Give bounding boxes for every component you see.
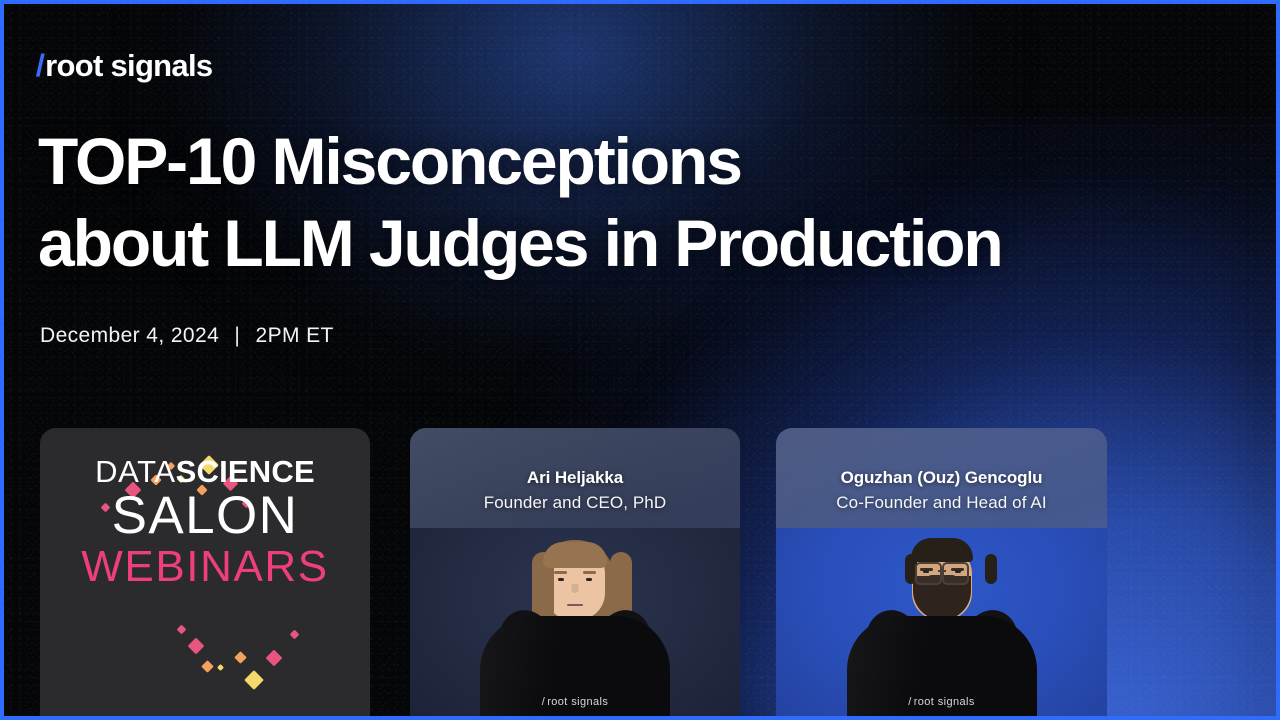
dss-word-webinars: WEBINARS xyxy=(40,545,370,589)
confetti-diamond xyxy=(188,638,205,655)
data-science-salon-card: DATASCIENCE SALON WEBINARS xyxy=(40,428,370,720)
hair xyxy=(911,538,973,562)
speaker-role: Founder and CEO, PhD xyxy=(410,493,740,513)
hoodie-slash-icon: / xyxy=(908,696,911,708)
glasses-bridge xyxy=(938,570,946,572)
root-signals-logo: / root signals xyxy=(36,50,212,81)
speaker-role: Co-Founder and Head of AI xyxy=(776,493,1107,513)
page-title-line-2: about LLM Judges in Production xyxy=(38,210,1238,276)
confetti-diamond xyxy=(177,625,187,635)
page-title: TOP-10 Misconceptions about LLM Judges i… xyxy=(38,128,1238,276)
nose xyxy=(572,584,579,593)
speaker-card-ari-heljakka: Ari Heljakka Founder and CEO, PhD xyxy=(410,428,740,720)
glasses-icon xyxy=(915,562,969,582)
dss-word-salon: SALON xyxy=(40,489,370,542)
hoodie-logo-text: /root signals xyxy=(908,696,975,708)
eyebrow-right xyxy=(583,571,596,574)
hair-fringe xyxy=(543,542,607,568)
dss-word-data: DATA xyxy=(95,454,175,489)
confetti-diamond xyxy=(201,660,214,673)
confetti-diamond xyxy=(234,651,247,664)
logo-slash-icon: / xyxy=(35,50,44,81)
event-separator: | xyxy=(234,324,240,348)
event-date: December 4, 2024 xyxy=(40,324,219,347)
speaker-portrait: /root signals xyxy=(776,528,1107,720)
hoodie-wordmark: root signals xyxy=(547,696,608,708)
confetti-diamond xyxy=(217,664,224,671)
logo-wordmark: root signals xyxy=(45,50,212,81)
confetti-diamond xyxy=(290,630,300,640)
speaker-portrait: /root signals xyxy=(410,528,740,720)
page-title-line-1: TOP-10 Misconceptions xyxy=(38,128,1238,194)
speaker-name: Ari Heljakka xyxy=(410,468,740,488)
glasses-lens-left xyxy=(915,562,942,585)
hair-side-right xyxy=(985,554,997,584)
eye-left xyxy=(558,578,564,581)
speaker-name: Oguzhan (Ouz) Gencoglu xyxy=(776,468,1107,488)
glasses-lens-right xyxy=(942,562,969,585)
speaker-card-oguzhan-gencoglu: Oguzhan (Ouz) Gencoglu Co-Founder and He… xyxy=(776,428,1107,720)
webinar-promo-slide: / root signals TOP-10 Misconceptions abo… xyxy=(0,0,1280,720)
dss-word-science: SCIENCE xyxy=(176,454,315,489)
confetti-diamond xyxy=(266,650,283,667)
hoodie-logo-text: /root signals xyxy=(542,696,609,708)
cards-row: DATASCIENCE SALON WEBINARS Ari Heljakka … xyxy=(4,428,1280,720)
eye-left xyxy=(923,570,929,573)
mouth xyxy=(567,604,583,607)
event-time: 2PM ET xyxy=(256,324,334,347)
dss-line-data-science: DATASCIENCE xyxy=(40,456,370,487)
dss-wordmark: DATASCIENCE SALON WEBINARS xyxy=(40,456,370,589)
hoodie-slash-icon: / xyxy=(542,696,545,708)
eye-right xyxy=(955,570,961,573)
confetti-diamond xyxy=(244,670,264,690)
hoodie-wordmark: root signals xyxy=(914,696,975,708)
event-datetime: December 4, 2024 | 2PM ET xyxy=(40,324,334,348)
eye-right xyxy=(586,578,592,581)
eyebrow-left xyxy=(554,571,567,574)
